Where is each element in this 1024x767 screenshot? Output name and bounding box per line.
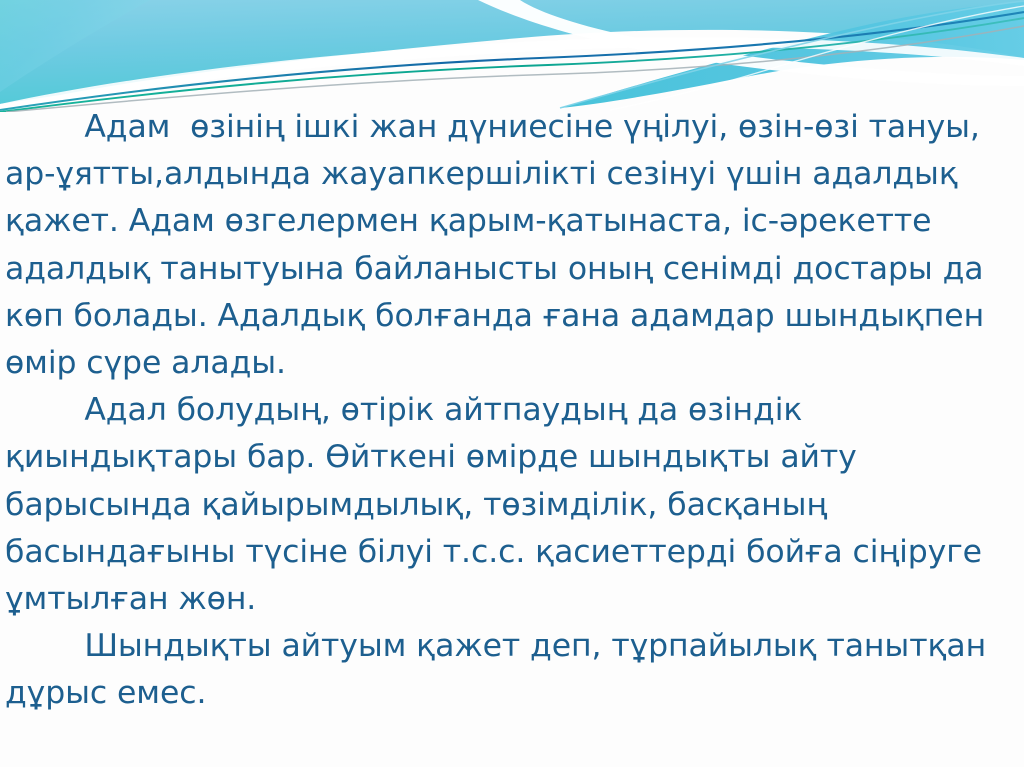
wave-graphic (0, 0, 1024, 112)
slide-body-text: Адам өзінің ішкі жан дүниесіне үңілуі, ө… (0, 104, 1024, 718)
decorative-wave-banner (0, 0, 1024, 112)
paragraph-2: Адал болудың, өтірік айтпаудың да өзінді… (5, 387, 1018, 623)
presentation-slide: Адам өзінің ішкі жан дүниесіне үңілуі, ө… (0, 0, 1024, 767)
paragraph-1: Адам өзінің ішкі жан дүниесіне үңілуі, ө… (5, 104, 1018, 387)
paragraph-3: Шындықты айтуым қажет деп, тұрпайылық та… (5, 623, 1018, 717)
